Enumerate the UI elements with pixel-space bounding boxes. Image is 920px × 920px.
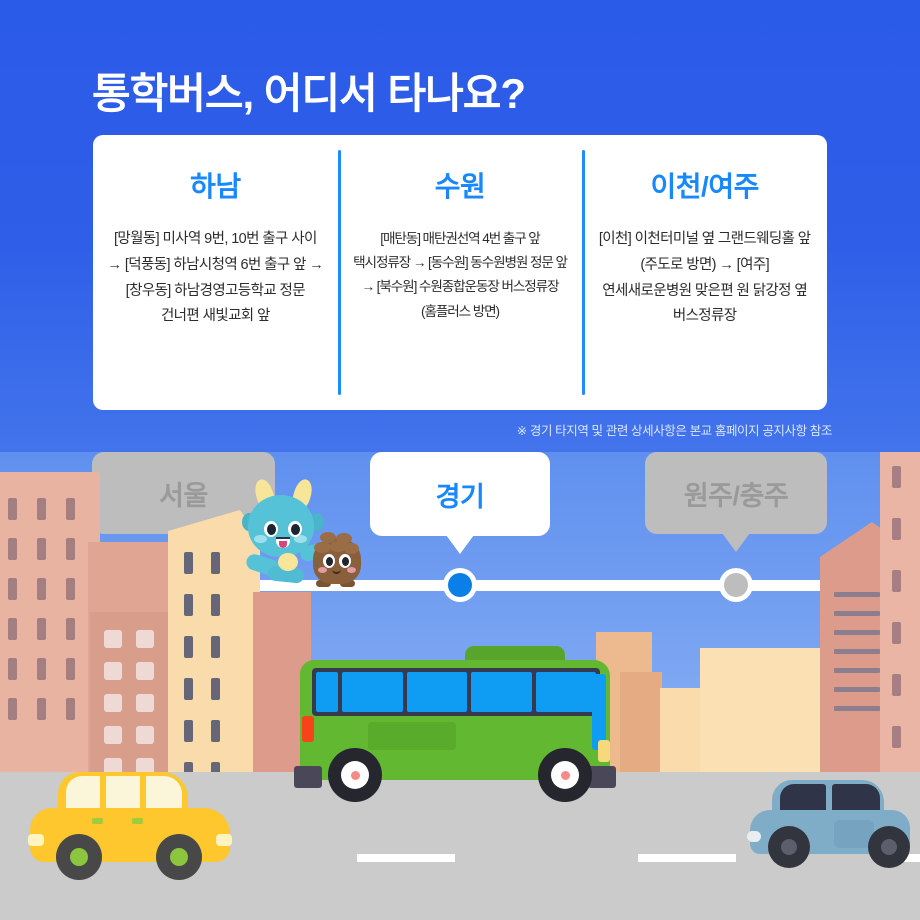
yellow-car-headlight: [28, 834, 44, 846]
window: [104, 694, 122, 712]
building-stripe: [834, 592, 880, 597]
window-grid: [90, 612, 168, 772]
blue-car-headlight: [747, 831, 761, 842]
bus-window-strip: [312, 668, 600, 716]
window: [892, 466, 901, 488]
region-column-hanam: 하남 [망월동] 미사역 9번, 10번 출구 사이 → [덕풍동] 하남시청역…: [93, 135, 338, 410]
window: [892, 570, 901, 592]
window: [184, 720, 193, 742]
building-stripe: [834, 668, 880, 673]
window: [136, 726, 154, 744]
window: [37, 498, 46, 520]
bus-wheel-hub: [341, 761, 369, 789]
yellow-car-wheel-front: [56, 834, 102, 880]
building-left-3: [90, 612, 168, 772]
bus-window: [407, 672, 468, 712]
window: [184, 636, 193, 658]
window: [66, 538, 75, 560]
window: [892, 622, 901, 644]
blue-car: [750, 782, 910, 868]
window: [211, 720, 220, 742]
bus-wheel-hub: [551, 761, 579, 789]
blue-car-windshield: [780, 784, 826, 812]
pinecone-eye-right: [339, 554, 351, 568]
building-stripe: [834, 706, 880, 711]
building-stripe: [834, 687, 880, 692]
bus-front-bumper: [588, 766, 616, 788]
region-column-icheon-yeoju: 이천/여주 [이천] 이천터미널 옆 그랜드웨딩홀 앞(주도로 방면) → [여…: [582, 135, 827, 410]
window: [211, 678, 220, 700]
building-stripe: [834, 611, 880, 616]
region-heading-icheon-yeoju: 이천/여주: [596, 165, 813, 205]
yellow-car-handle: [132, 818, 143, 824]
window: [892, 518, 901, 540]
window: [66, 658, 75, 680]
bus-wheel-front: [538, 748, 592, 802]
bus-headlight: [598, 740, 610, 762]
window: [66, 498, 75, 520]
window: [184, 594, 193, 616]
pinecone-cheek-left: [318, 567, 327, 573]
bus-stop-card: 하남 [망월동] 미사역 9번, 10번 출구 사이 → [덕풍동] 하남시청역…: [93, 135, 827, 410]
mascot-eye-right: [288, 521, 302, 537]
mascot-pinecone-character: [310, 528, 364, 586]
region-body-suwon: [매탄동] 매탄권선역 4번 출구 앞 택시정류장 → [동수원] 동수원병원 …: [352, 227, 569, 324]
bus-window: [536, 672, 597, 712]
region-tab-gyeonggi-label: 경기: [436, 475, 485, 514]
building-stripe: [834, 649, 880, 654]
window: [8, 578, 17, 600]
mascot-belly: [278, 553, 298, 571]
window: [184, 678, 193, 700]
road-dash: [638, 854, 736, 862]
window: [66, 578, 75, 600]
window: [136, 662, 154, 680]
building-stripe: [834, 630, 880, 635]
blue-car-side-window: [832, 784, 880, 812]
yellow-car: [30, 775, 230, 880]
window: [136, 694, 154, 712]
blue-car-wheel-front: [768, 826, 810, 868]
window-grid: [880, 452, 920, 772]
window: [37, 618, 46, 640]
city-illustration: [0, 452, 920, 920]
window: [104, 726, 122, 744]
window: [8, 498, 17, 520]
window: [8, 698, 17, 720]
pinecone-scale: [314, 542, 331, 553]
mascot-cheek-left: [254, 535, 267, 543]
window: [66, 618, 75, 640]
window: [8, 618, 17, 640]
blue-car-wheel-rear: [868, 826, 910, 868]
window: [37, 578, 46, 600]
window: [211, 636, 220, 658]
region-tab-wonju-chungju-label: 원주/충주: [684, 474, 788, 513]
bus-wheel-rear: [328, 748, 382, 802]
window: [8, 658, 17, 680]
region-heading-suwon: 수원: [352, 165, 569, 205]
region-tab-seoul-label: 서울: [159, 474, 208, 513]
pinecone-eye-left: [323, 554, 335, 568]
window: [8, 538, 17, 560]
pinecone-cheek-right: [347, 567, 356, 573]
window-grid: [0, 472, 100, 772]
window: [104, 662, 122, 680]
bus-window: [471, 672, 532, 712]
bus-rear-bumper: [294, 766, 322, 788]
yellow-car-wheel-rear: [156, 834, 202, 880]
window: [892, 726, 901, 748]
yellow-car-handle: [92, 818, 103, 824]
bus-side-panel: [368, 722, 456, 750]
yellow-car-taillight: [216, 834, 232, 846]
window: [37, 698, 46, 720]
window: [66, 698, 75, 720]
region-column-suwon: 수원 [매탄동] 매탄권선역 4번 출구 앞 택시정류장 → [동수원] 동수원…: [338, 135, 583, 410]
building-mid-2: [620, 672, 662, 772]
building-stripe-group: [834, 592, 880, 711]
window: [211, 594, 220, 616]
window: [892, 674, 901, 696]
footnote-text: ※ 경기 타지역 및 관련 상세사항은 본교 홈페이지 공지사항 참조: [517, 420, 832, 439]
road-dash: [357, 854, 455, 862]
bus-windshield: [592, 674, 606, 750]
window: [104, 630, 122, 648]
region-body-hanam: [망월동] 미사역 9번, 10번 출구 사이 → [덕풍동] 하남시청역 6번…: [107, 227, 324, 330]
window: [211, 552, 220, 574]
building-left-1: [0, 472, 100, 772]
window: [184, 552, 193, 574]
building-mid-4: [700, 648, 840, 772]
bus-taillight: [302, 716, 314, 742]
school-bus: [300, 647, 610, 802]
region-heading-hanam: 하남: [107, 165, 324, 205]
page-title: 통학버스, 어디서 타나요?: [92, 60, 792, 121]
window: [37, 658, 46, 680]
region-body-icheon-yeoju: [이천] 이천터미널 옆 그랜드웨딩홀 앞(주도로 방면) → [여주] 연세새…: [596, 227, 813, 330]
building-right-2: [880, 452, 920, 772]
bus-window: [342, 672, 403, 712]
mascot-eye-left: [264, 521, 278, 537]
bus-window: [316, 672, 338, 712]
pinecone-scale: [344, 543, 359, 554]
infographic-page: 통학버스, 어디서 타나요? 하남 [망월동] 미사역 9번, 10번 출구 사…: [0, 0, 920, 920]
window: [136, 630, 154, 648]
window: [37, 538, 46, 560]
